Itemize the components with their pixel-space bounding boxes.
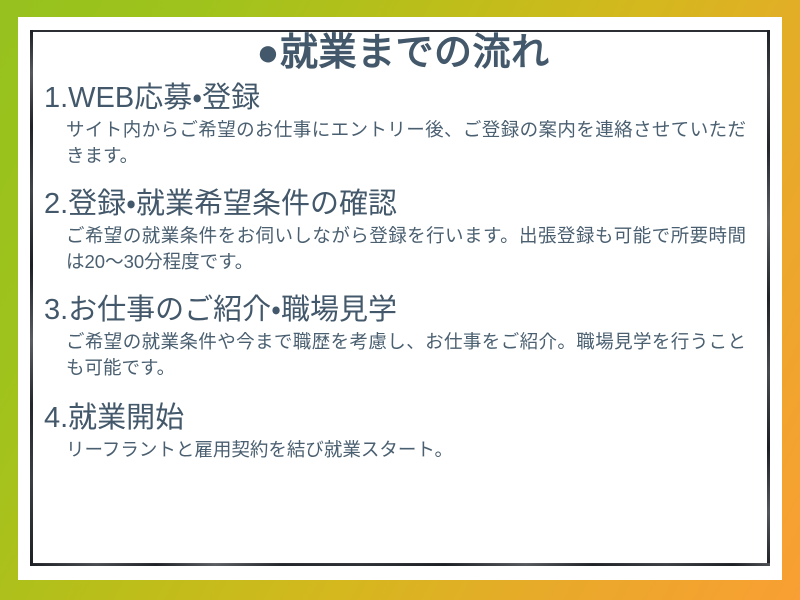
frame-left-edge (30, 30, 33, 566)
content-area: ●就業までの流れ 1.WEB応募・登録 サイト内からご希望のお仕事にエントリー後… (44, 33, 762, 570)
frame-right-edge (767, 30, 770, 566)
step-heading-2: 2.登録・就業希望条件の確認 (44, 187, 762, 222)
step-heading-1: 1.WEB応募・登録 (44, 81, 762, 116)
step-heading-3: 3.お仕事のご紹介・職場見学 (44, 293, 762, 328)
step-item-3: 3.お仕事のご紹介・職場見学 ご希望の就業条件や今まで職歴を考慮し、お仕事をご紹… (44, 293, 762, 382)
step-body-1: サイト内からご希望のお仕事にエントリー後、ご登録の案内を連絡させていただきます。 (66, 117, 746, 170)
poster-container: ●就業までの流れ 1.WEB応募・登録 サイト内からご希望のお仕事にエントリー後… (0, 0, 800, 600)
step-body-4: リーフラントと雇用契約を結び就業スタート。 (66, 437, 746, 463)
step-body-3: ご希望の就業条件や今まで職歴を考慮し、お仕事をご紹介。職場見学を行うことも可能で… (66, 329, 746, 382)
step-body-2: ご希望の就業条件をお伺いしながら登録を行います。出張登録も可能で所要時間は20〜… (66, 223, 746, 276)
step-item-2: 2.登録・就業希望条件の確認 ご希望の就業条件をお伺いしながら登録を行います。出… (44, 187, 762, 276)
step-item-1: 1.WEB応募・登録 サイト内からご希望のお仕事にエントリー後、ご登録の案内を連… (44, 81, 762, 170)
page-title: ●就業までの流れ (44, 33, 762, 75)
white-card: ●就業までの流れ 1.WEB応募・登録 サイト内からご希望のお仕事にエントリー後… (18, 17, 782, 580)
step-item-4: 4.就業開始 リーフラントと雇用契約を結び就業スタート。 (44, 401, 762, 464)
step-heading-4: 4.就業開始 (44, 401, 762, 436)
